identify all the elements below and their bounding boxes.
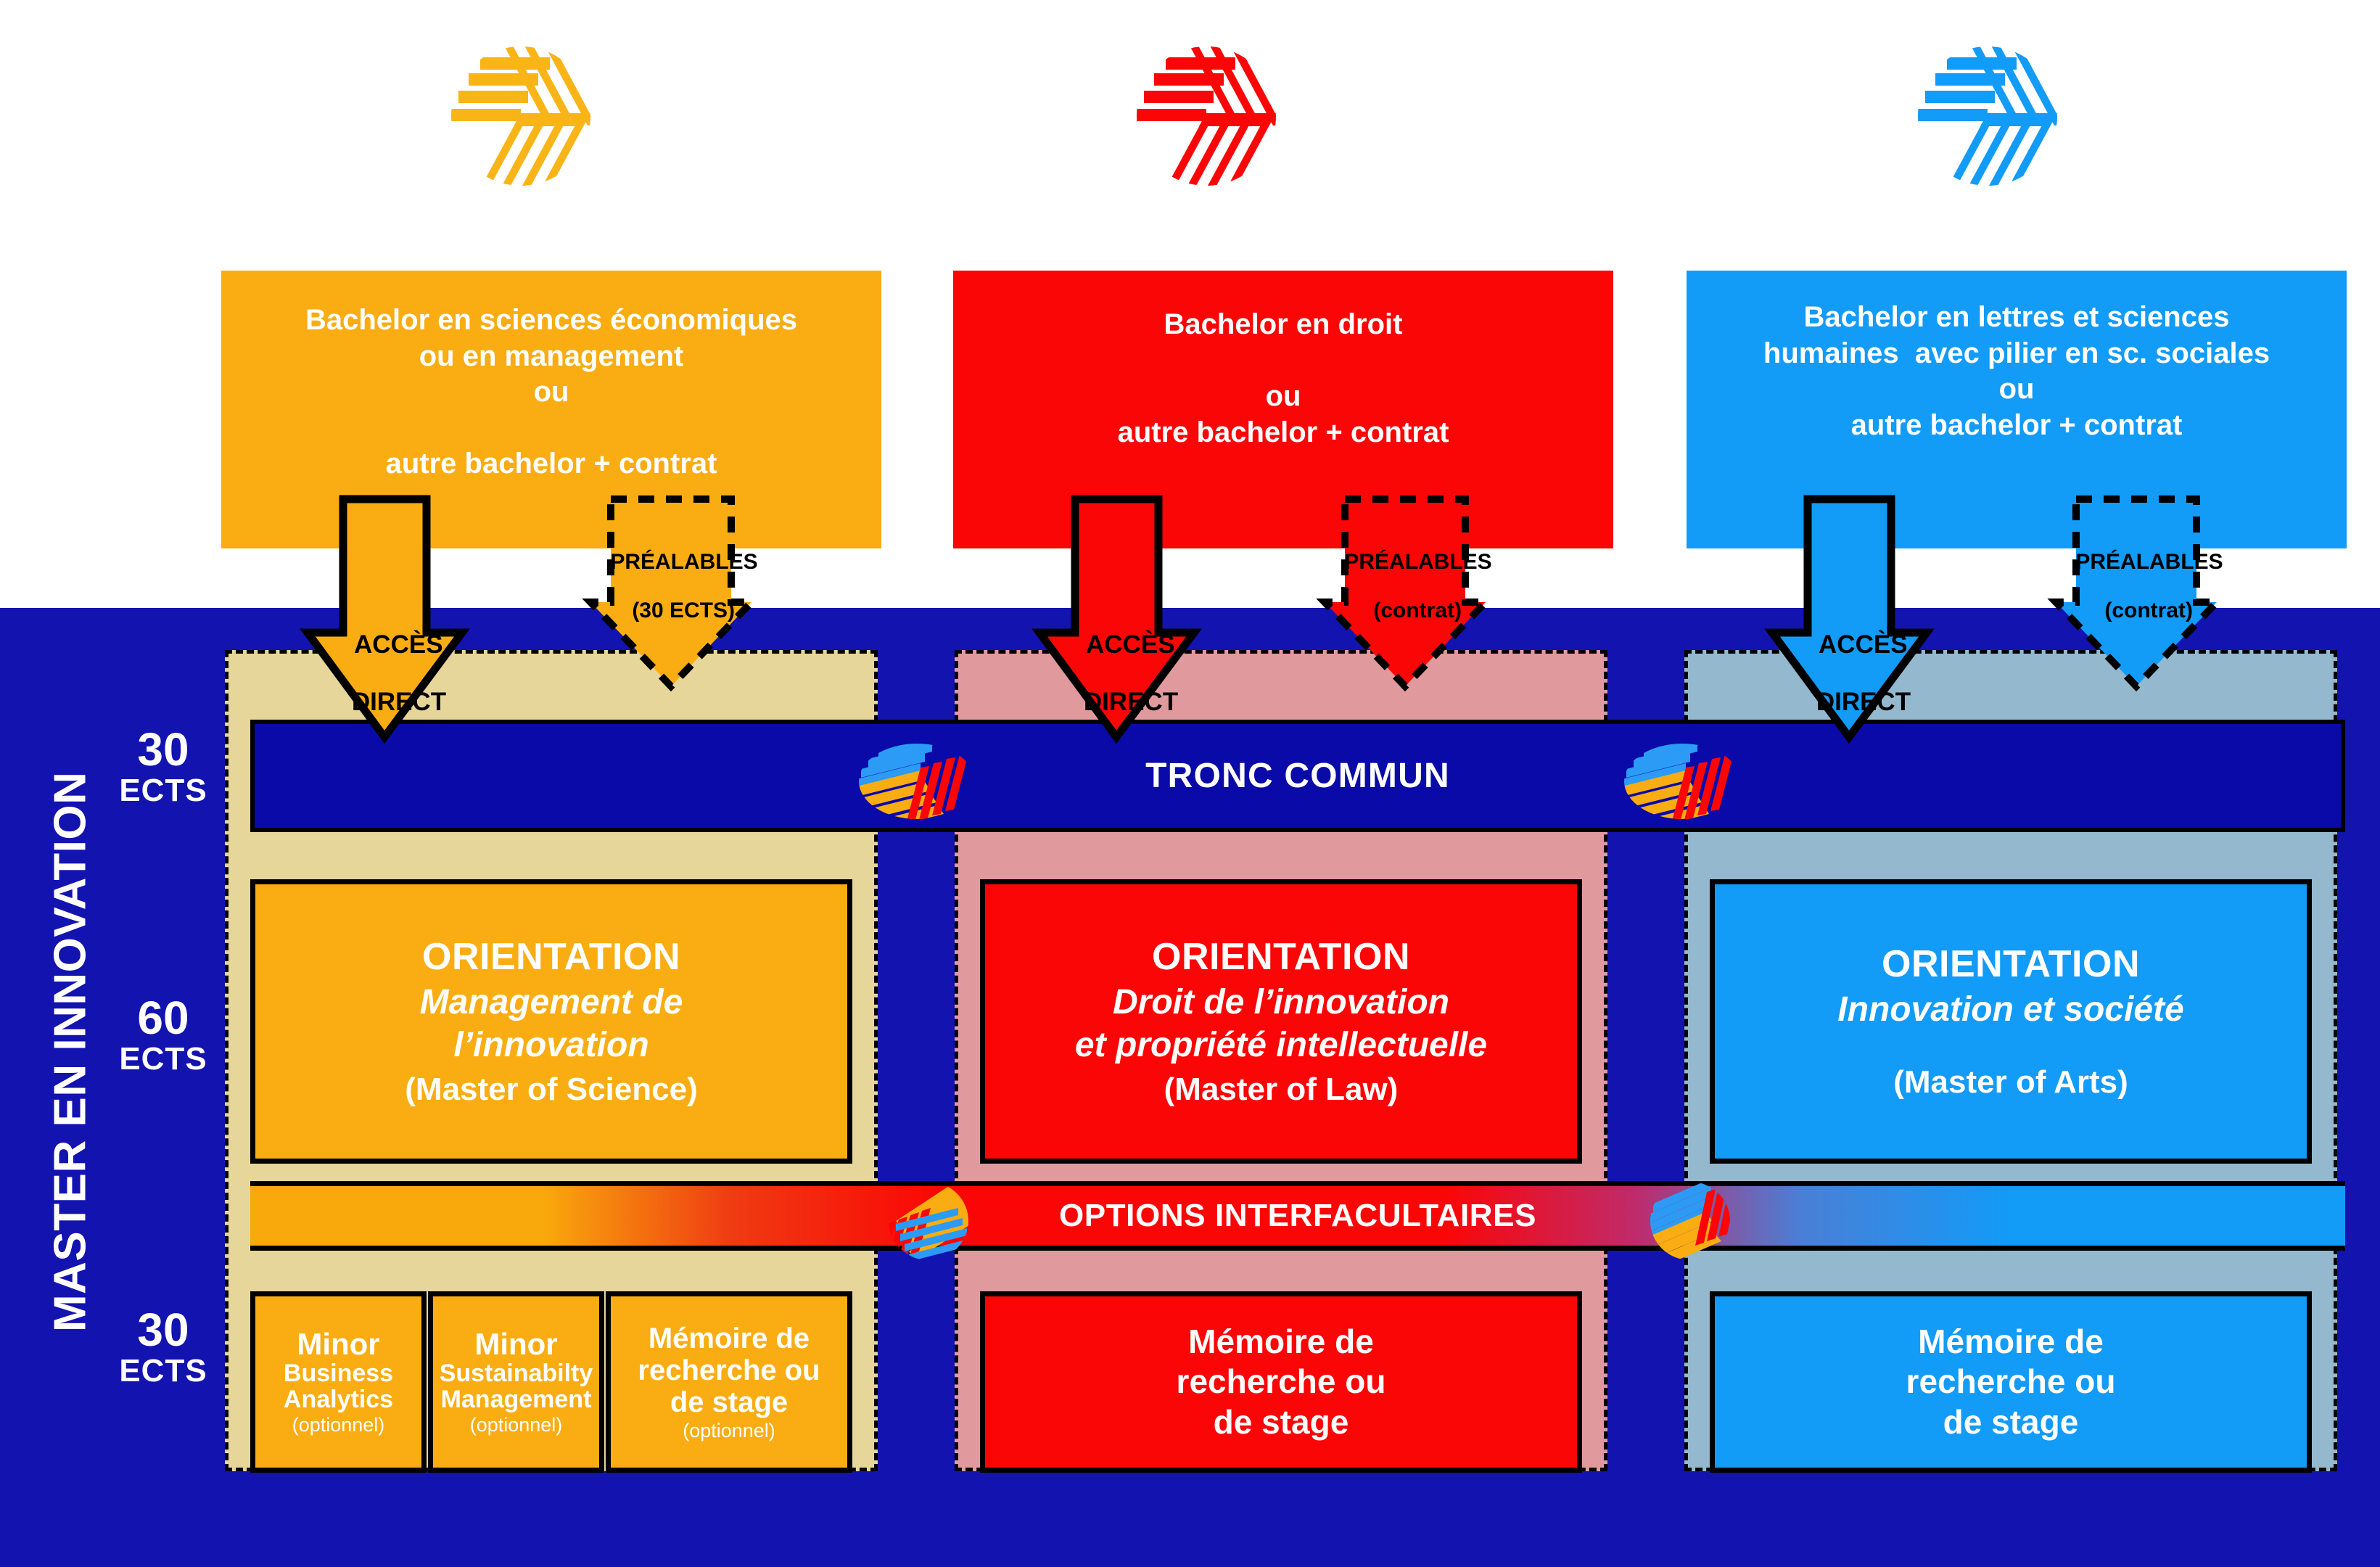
bachelor-line-spacer [1279, 343, 1287, 379]
ects-unit: ECTS [87, 1042, 239, 1076]
bachelor-line: ou [1999, 371, 2035, 408]
memoire-title: Mémoire de recherche ou de stage [638, 1323, 820, 1418]
orientation-box-law: ORIENTATION Droit de l’innovation et pro… [980, 879, 1582, 1164]
orientation-subtitle: Management de l’innovation [420, 982, 683, 1066]
options-interfacultaires-bar: OPTIONS INTERFACULTAIRES [250, 1181, 2345, 1251]
minor-subtitle: Sustainabilty Management [440, 1360, 593, 1412]
bachelor-line: Bachelor en sciences économiques [305, 303, 797, 339]
memoire-title: Mémoire de recherche ou de stage [1177, 1322, 1386, 1442]
memoire-box-humanities: Mémoire de recherche ou de stage [1710, 1291, 2312, 1473]
orientation-box-economics: ORIENTATION Management de l’innovation (… [250, 879, 852, 1164]
orientation-title: ORIENTATION [422, 935, 680, 979]
orientation-box-humanities: ORIENTATION Innovation et société (Maste… [1710, 879, 2312, 1164]
memoire-optional-label: (optionnel) [683, 1420, 775, 1442]
orientation-subtitle: Droit de l’innovation et propriété intel… [1075, 982, 1487, 1066]
bachelor-line-spacer [547, 411, 555, 447]
minor-optional-label: (optionnel) [470, 1415, 563, 1436]
ects-unit: ECTS [87, 774, 239, 807]
ects-label-30-top: 30 ECTS [87, 725, 239, 807]
ects-unit: ECTS [87, 1354, 239, 1388]
unil-logo-tricolor-icon [857, 741, 977, 821]
orientation-degree: (Master of Science) [405, 1072, 697, 1108]
minor-subtitle: Business Analytics [284, 1360, 393, 1412]
bachelor-line: autre bachelor + contrat [1118, 415, 1449, 451]
options-label: OPTIONS INTERFACULTAIRES [1059, 1198, 1536, 1234]
unil-logo-tricolor-icon [1636, 1180, 1745, 1262]
orientation-subtitle: Innovation et société [1837, 989, 2183, 1032]
minor-box-business-analytics: Minor Business Analytics (optionnel) [250, 1291, 427, 1473]
unil-logo-red-icon [1134, 40, 1279, 229]
tronc-commun-bar: TRONC COMMUN [250, 720, 2345, 832]
unil-logo-tricolor-icon [1622, 741, 1742, 821]
acces-direct-arrow-economics: ACCÈS DIRECT [303, 495, 466, 741]
minor-title: Minor [297, 1328, 379, 1360]
minor-box-sustainability-management: Minor Sustainabilty Management (optionne… [428, 1291, 604, 1473]
ects-label-30-bottom: 30 ECTS [87, 1306, 239, 1387]
orientation-degree: (Master of Law) [1164, 1072, 1399, 1108]
tronc-commun-label: TRONC COMMUN [1145, 756, 1450, 796]
prealables-arrow-economics: PRÉALABLES (30 ECTS) [586, 495, 757, 691]
ects-number: 60 [87, 994, 239, 1042]
minor-optional-label: (optionnel) [292, 1415, 385, 1436]
orientation-title: ORIENTATION [1882, 942, 2140, 986]
memoire-box-economics: Mémoire de recherche ou de stage (option… [606, 1291, 852, 1473]
bachelor-line: ou [1266, 379, 1301, 415]
acces-direct-arrow-humanities: ACCÈS DIRECT [1768, 495, 1931, 741]
ects-number: 30 [87, 725, 239, 774]
prealables-arrow-law: PRÉALABLES (contrat) [1320, 495, 1491, 691]
bachelor-line: humaines avec pilier en sc. sociales [1763, 336, 2270, 372]
acces-direct-arrow-law: ACCÈS DIRECT [1035, 495, 1198, 741]
bachelor-line: Bachelor en droit [1164, 307, 1403, 343]
bachelor-line: ou [534, 374, 569, 411]
unil-logo-blue-icon [1915, 40, 2060, 229]
ects-number: 30 [87, 1306, 239, 1354]
bachelor-line: autre bachelor + contrat [1851, 408, 2183, 444]
memoire-title: Mémoire de recherche ou de stage [1906, 1322, 2116, 1442]
bachelor-line: ou en management [419, 339, 684, 375]
unil-logo-tricolor-icon [874, 1180, 983, 1262]
unil-logo-yellow-icon [448, 40, 593, 229]
ects-label-60: 60 ECTS [87, 994, 239, 1075]
orientation-degree: (Master of Arts) [1893, 1064, 2128, 1101]
bachelor-line: Bachelor en lettres et sciences [1804, 300, 2230, 336]
bachelor-line: autre bachelor + contrat [386, 446, 717, 482]
minor-title: Minor [474, 1328, 557, 1360]
memoire-box-law: Mémoire de recherche ou de stage [980, 1291, 1582, 1473]
prealables-arrow-humanities: PRÉALABLES (contrat) [2051, 495, 2222, 691]
orientation-title: ORIENTATION [1152, 935, 1410, 979]
